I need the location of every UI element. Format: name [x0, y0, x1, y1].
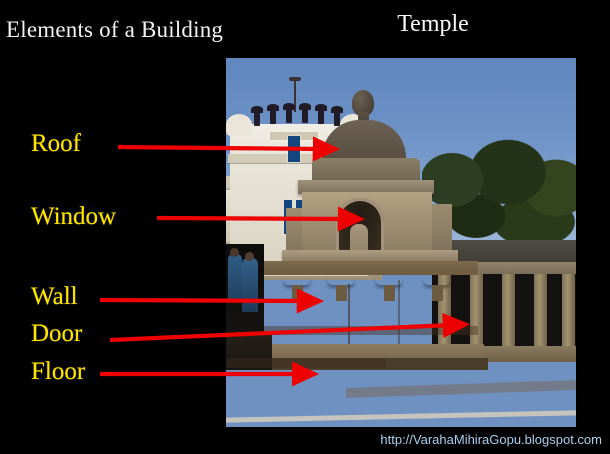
- visitor-figure-1: [228, 254, 242, 302]
- wall-joint-1: [348, 284, 350, 350]
- wall-shadow-band: [256, 326, 478, 335]
- wall-joint-2: [398, 280, 400, 350]
- callout-label-window: Window: [31, 203, 116, 230]
- wall-corbel-4: [424, 276, 450, 285]
- floor-shadow: [226, 358, 386, 368]
- gopuram-finial-2: [270, 108, 276, 124]
- gopuram-window-upper: [288, 136, 300, 162]
- presentation-slide: Elements of a Building Temple: [0, 0, 610, 454]
- gopuram-finial-4: [302, 107, 308, 123]
- visitor-figure-2: [242, 258, 258, 312]
- gopuram-kudu-left: [226, 114, 252, 136]
- visitor-head-1: [230, 248, 239, 257]
- source-url[interactable]: http://VarahaMihiraGopu.blogspot.com: [380, 432, 602, 448]
- mandapa-pillar-3: [502, 274, 515, 350]
- mandapa-pillar-4: [534, 274, 547, 350]
- callout-label-roof: Roof: [31, 130, 81, 157]
- mandapa-pillar-5: [562, 274, 575, 350]
- callout-label-door: Door: [31, 320, 82, 347]
- temple-photograph: [226, 58, 576, 427]
- gopuram-finial-3: [286, 107, 292, 123]
- page-title: Elements of a Building: [6, 17, 223, 43]
- wall-corbel-stem-2: [336, 285, 347, 301]
- callout-label-wall: Wall: [31, 283, 78, 310]
- callout-label-floor: Floor: [31, 358, 85, 385]
- wall-corbel-stem-4: [432, 285, 443, 301]
- gopuram-finial-1: [254, 110, 260, 126]
- visitor-head-2: [245, 252, 254, 261]
- gopuram-finial-6: [334, 110, 340, 126]
- photo-caption-title: Temple: [383, 11, 483, 38]
- wall-corbel-stem-1: [292, 285, 303, 301]
- gopuram-finial-5: [318, 108, 324, 124]
- wall-corbel-stem-3: [384, 285, 395, 301]
- wall-corbel-2: [328, 276, 354, 285]
- wall-corbel-1: [284, 276, 310, 285]
